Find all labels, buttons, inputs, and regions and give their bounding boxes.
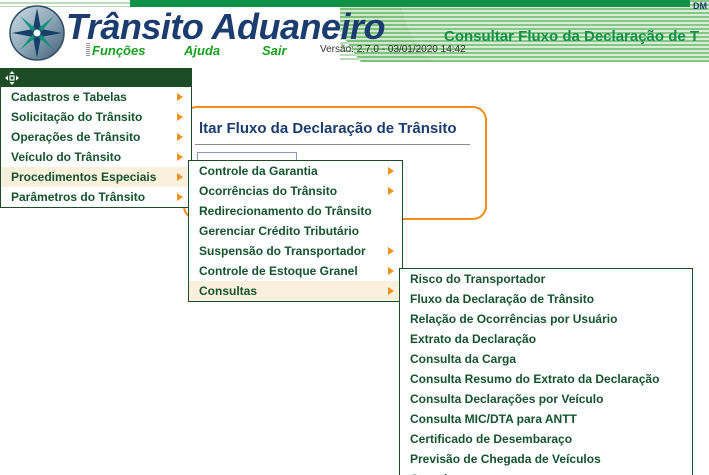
- menu-item-consulta-mic-dta-para-antt[interactable]: Consulta MIC/DTA para ANTT: [400, 409, 692, 429]
- menu-item-relacao-de-ocorrencias-por-usuario[interactable]: Relação de Ocorrências por Usuário: [400, 309, 692, 329]
- menu-item-label: Suspensão do Transportador: [199, 244, 366, 258]
- menu-item-label: Fluxo da Declaração de Trânsito: [410, 292, 594, 306]
- menu-item-suspensao-do-transportador[interactable]: Suspensão do Transportador: [189, 241, 402, 261]
- content-panel-title: ltar Fluxo da Declaração de Trânsito: [199, 120, 457, 137]
- nav-link-sair[interactable]: Sair: [262, 43, 287, 58]
- menu-item-label: Controle de Estoque Granel: [199, 264, 358, 278]
- menu-item-label: Veículo do Trânsito: [11, 150, 121, 164]
- menu-item-label: Consulta Declarações por Veículo: [410, 392, 603, 406]
- menu-item-controle-da-garantia[interactable]: Controle da Garantia: [189, 161, 402, 181]
- chevron-right-icon: [388, 287, 394, 295]
- menu-item-gerenciar-credito-tributario[interactable]: Gerenciar Crédito Tributário: [189, 221, 402, 241]
- chevron-right-icon: [177, 173, 183, 181]
- menu-item-label: Relação de Ocorrências por Usuário: [410, 312, 617, 326]
- page-heading: Consultar Fluxo da Declaração de T: [444, 28, 699, 45]
- menu-item-label: Cadastros e Tabelas: [11, 90, 127, 104]
- menu-item-operacoes-de-transito[interactable]: Operações de Trânsito: [1, 127, 191, 147]
- menu-item-previsao-de-chegada-de-veiculos[interactable]: Previsão de Chegada de Veículos: [400, 449, 692, 469]
- nav-grip-icon: [86, 43, 90, 56]
- compass-rose-icon: [8, 4, 66, 62]
- content-divider: [195, 144, 470, 145]
- menu-item-label: Redirecionamento do Trânsito: [199, 204, 372, 218]
- chevron-right-icon: [177, 93, 183, 101]
- menu-item-consulta-declaracoes-por-veiculo[interactable]: Consulta Declarações por Veículo: [400, 389, 692, 409]
- menu-item-label: Previsão de Chegada de Veículos: [410, 452, 601, 466]
- nav-link-funcoes[interactable]: Funções: [92, 43, 145, 58]
- menu-item-list: Cadastros e TabelasSolicitação do Trânsi…: [1, 87, 191, 207]
- menu-item-label: Ocorrências do Trânsito: [199, 184, 337, 198]
- menu-item-certificado-de-desembaraco[interactable]: Certificado de Desembaraço: [400, 429, 692, 449]
- menu-item-cadastros-e-tabelas[interactable]: Cadastros e Tabelas: [1, 87, 191, 107]
- chevron-right-icon: [177, 153, 183, 161]
- menu-item-ocorrencias-do-transito[interactable]: Ocorrências do Trânsito: [189, 181, 402, 201]
- menu-item-label: Controle da Garantia: [199, 164, 318, 178]
- nav-link-ajuda[interactable]: Ajuda: [184, 43, 220, 58]
- menu-item-procedimentos-especiais[interactable]: Procedimentos Especiais: [1, 167, 191, 187]
- app-screen: Trânsito Aduaneiro Funções Ajuda Sair Ve…: [0, 0, 709, 475]
- menu-item-label: Solicitação do Trânsito: [11, 110, 142, 124]
- menu-item-controle-de-estoque-granel[interactable]: Controle de Estoque Granel: [189, 261, 402, 281]
- menu-item-container[interactable]: Container: [400, 469, 692, 475]
- chevron-right-icon: [177, 113, 183, 121]
- menu-item-label: Operações de Trânsito: [11, 130, 140, 144]
- menu-item-solicitacao-do-transito[interactable]: Solicitação do Trânsito: [1, 107, 191, 127]
- menu-item-label: Gerenciar Crédito Tributário: [199, 224, 359, 238]
- menu-item-label: Certificado de Desembaraço: [410, 432, 572, 446]
- chevron-right-icon: [177, 133, 183, 141]
- menu-item-label: Consulta da Carga: [410, 352, 516, 366]
- menu-titlebar[interactable]: [1, 69, 191, 87]
- menu-item-extrato-da-declaracao[interactable]: Extrato da Declaração: [400, 329, 692, 349]
- chevron-right-icon: [388, 167, 394, 175]
- chevron-right-icon: [388, 187, 394, 195]
- menu-item-risco-do-transportador[interactable]: Risco do Transportador: [400, 269, 692, 289]
- main-menu: Cadastros e TabelasSolicitação do Trânsi…: [0, 68, 192, 208]
- corner-tag: DM: [693, 1, 707, 11]
- chevron-right-icon: [177, 193, 183, 201]
- menu-item-consulta-resumo-do-extrato-da-declaracao[interactable]: Consulta Resumo do Extrato da Declaração: [400, 369, 692, 389]
- move-handle-icon[interactable]: [5, 71, 19, 85]
- menu-item-list: Risco do TransportadorFluxo da Declaraçã…: [400, 269, 692, 475]
- menu-item-veiculo-do-transito[interactable]: Veículo do Trânsito: [1, 147, 191, 167]
- submenu-consultas: Risco do TransportadorFluxo da Declaraçã…: [399, 268, 693, 475]
- menu-item-consulta-da-carga[interactable]: Consulta da Carga: [400, 349, 692, 369]
- submenu-procedimentos-especiais: Controle da GarantiaOcorrências do Trâns…: [188, 160, 403, 302]
- chevron-right-icon: [388, 247, 394, 255]
- page-title: Trânsito Aduaneiro: [66, 6, 385, 48]
- menu-item-label: Extrato da Declaração: [410, 332, 536, 346]
- menu-item-label: Risco do Transportador: [410, 272, 545, 286]
- menu-item-label: Parâmetros do Trânsito: [11, 190, 145, 204]
- menu-item-list: Controle da GarantiaOcorrências do Trâns…: [189, 161, 402, 301]
- menu-item-label: Procedimentos Especiais: [11, 170, 156, 184]
- menu-item-label: Consultas: [199, 284, 257, 298]
- app-header: Trânsito Aduaneiro Funções Ajuda Sair Ve…: [0, 0, 709, 72]
- version-label: Versão: 2.7.0 - 03/01/2020 14:42: [320, 44, 466, 55]
- menu-item-label: Consulta Resumo do Extrato da Declaração: [410, 372, 659, 386]
- chevron-right-icon: [388, 267, 394, 275]
- menu-item-parametros-do-transito[interactable]: Parâmetros do Trânsito: [1, 187, 191, 207]
- menu-item-consultas[interactable]: Consultas: [189, 281, 402, 301]
- menu-item-label: Consulta MIC/DTA para ANTT: [410, 412, 577, 426]
- menu-item-redirecionamento-do-transito[interactable]: Redirecionamento do Trânsito: [189, 201, 402, 221]
- menu-item-fluxo-da-declaracao-de-transito[interactable]: Fluxo da Declaração de Trânsito: [400, 289, 692, 309]
